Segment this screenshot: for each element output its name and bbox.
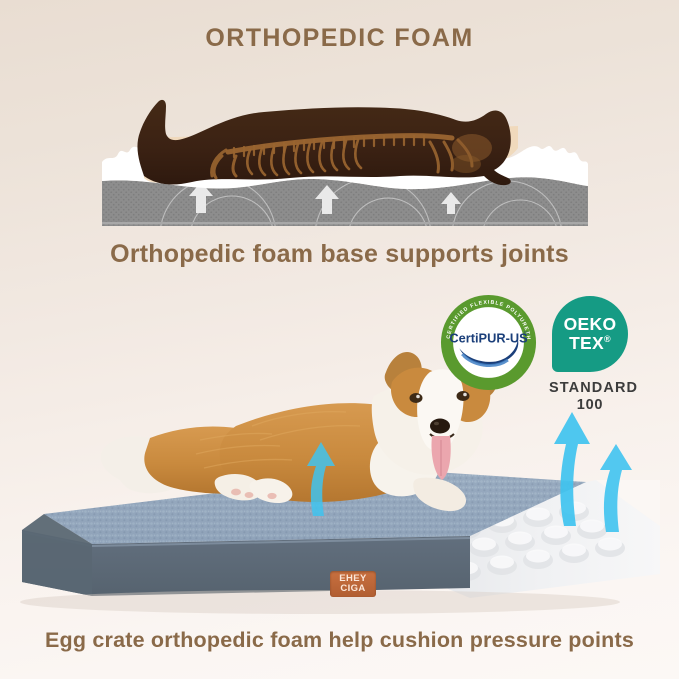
oeko-tex-drop-shape: OEKO TEX® xyxy=(552,296,628,372)
certipur-us-badge: CertiPUR-US ™ CONTAINS CERTIFIED FLEXIBL… xyxy=(440,294,537,391)
dog-nose xyxy=(430,419,450,434)
infographic-page: ORTHOPEDIC FOAM xyxy=(0,0,679,679)
orthopedic-foam-diagram xyxy=(100,86,590,238)
page-title: ORTHOPEDIC FOAM xyxy=(0,24,679,53)
airflow-arrows-secondary xyxy=(293,430,353,520)
brand-tag-line2: CIGA xyxy=(340,584,365,594)
oeko-tex-standard-label: STANDARD xyxy=(549,379,631,397)
dog-eye-right xyxy=(457,391,470,401)
airflow-arrow-1 xyxy=(554,412,590,526)
dog-jaw xyxy=(451,155,481,173)
diagram-caption: Orthopedic foam base supports joints xyxy=(0,240,679,269)
certipur-center-text: CertiPUR-US xyxy=(449,331,528,346)
airflow-arrow-2 xyxy=(600,444,632,532)
oeko-tex-badge: OEKO TEX® STANDARD 100 xyxy=(549,296,631,412)
dog-eye-left xyxy=(410,393,423,403)
dog-silhouette-with-skeleton xyxy=(137,100,518,185)
oeko-tex-line2: TEX® xyxy=(569,334,611,352)
base-foam-block xyxy=(102,177,588,238)
airflow-arrow-3 xyxy=(307,442,335,516)
oeko-tex-standard-number: 100 xyxy=(549,397,631,413)
oeko-tex-line1: OEKO xyxy=(564,316,617,334)
brand-tag: EHEY CIGA xyxy=(330,571,376,597)
product-caption: Egg crate orthopedic foam help cushion p… xyxy=(0,628,679,653)
